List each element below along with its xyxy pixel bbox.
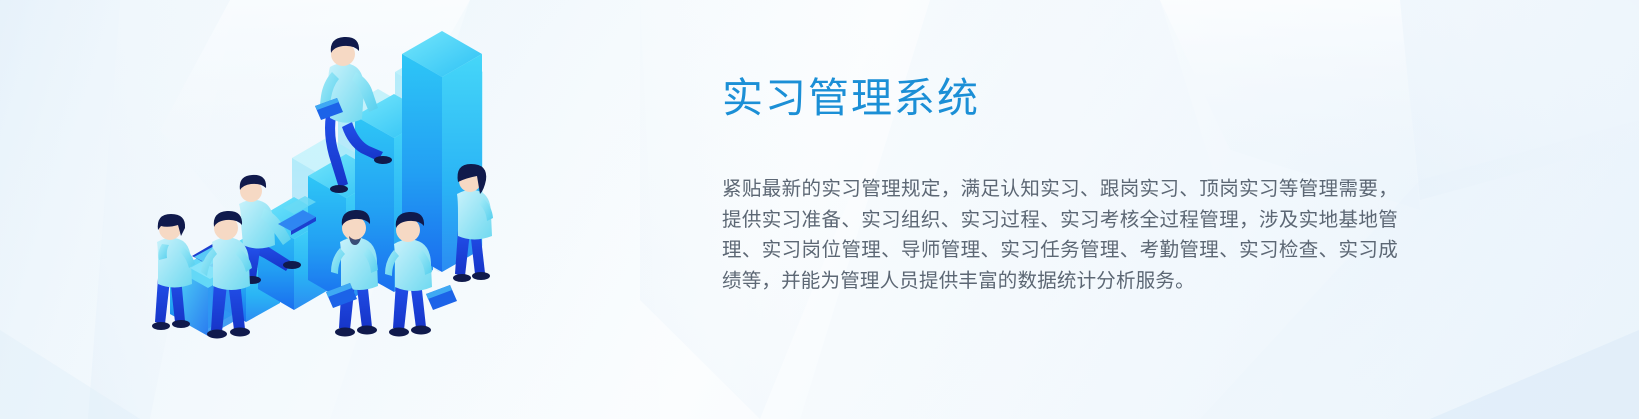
page-title: 实习管理系统	[722, 74, 1412, 122]
banner-copy: 实习管理系统 紧贴最新的实习管理规定，满足认知实习、跟岗实习、顶岗实习等管理需要…	[722, 74, 1412, 296]
banner-description: 紧贴最新的实习管理规定，满足认知实习、跟岗实习、顶岗实习等管理需要，提供实习准备…	[722, 122, 1398, 296]
hero-banner: 实习管理系统 紧贴最新的实习管理规定，满足认知实习、跟岗实习、顶岗实习等管理需要…	[0, 0, 1639, 419]
isometric-bar-chart-graphic	[140, 10, 510, 355]
hero-illustration	[140, 10, 510, 355]
